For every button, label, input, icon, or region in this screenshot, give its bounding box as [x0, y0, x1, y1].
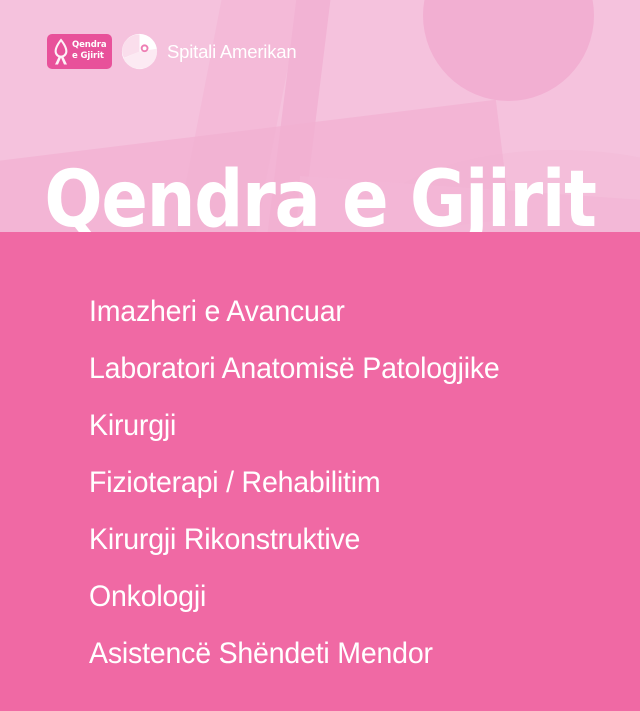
page-title: Qendra e Gjirit	[38, 152, 601, 232]
badge-text: Qendra e Gjirit	[72, 40, 111, 61]
list-item[interactable]: Asistencë Shëndeti Mendor	[89, 625, 612, 682]
badge-line-1: Qendra	[72, 40, 106, 50]
poster-header: Qendra e Gjirit Spitali Amerikan Qendra …	[0, 0, 640, 232]
breast-center-poster: Qendra e Gjirit Spitali Amerikan Qendra …	[0, 0, 640, 711]
list-item[interactable]: Kirurgji	[89, 397, 612, 454]
list-item[interactable]: Onkologji	[89, 568, 612, 625]
list-item[interactable]: Laboratori Anatomisë Patologjike	[89, 340, 612, 397]
qendra-e-gjirit-badge[interactable]: Qendra e Gjirit	[47, 34, 112, 69]
decorative-circle	[423, 0, 594, 101]
brand-logo-lockup[interactable]: Qendra e Gjirit Spitali Amerikan	[47, 33, 296, 70]
services-list: Imazheri e Avancuar Laboratori Anatomisë…	[0, 232, 640, 682]
services-section: Imazheri e Avancuar Laboratori Anatomisë…	[0, 232, 640, 711]
badge-line-2: e Gjirit	[72, 51, 104, 61]
hospital-wordmark: Spitali Amerikan	[167, 41, 296, 63]
list-item[interactable]: Fizioterapi / Rehabilitim	[89, 454, 612, 511]
list-item[interactable]: Kirurgji Rikonstruktive	[89, 511, 612, 568]
hospital-circle-mark-icon	[121, 33, 158, 70]
list-item[interactable]: Imazheri e Avancuar	[89, 283, 612, 340]
awareness-ribbon-icon	[50, 37, 72, 66]
